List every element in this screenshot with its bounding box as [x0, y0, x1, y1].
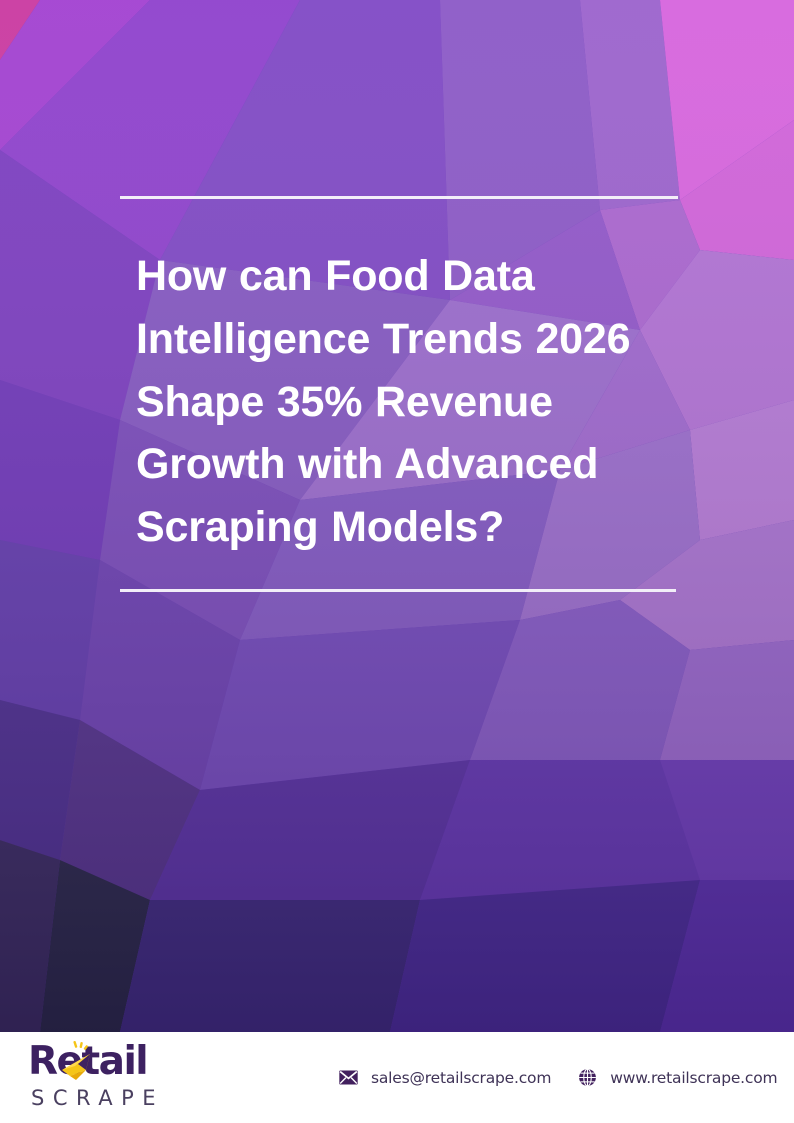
- footer-contacts: sales@retailscrape.com www.retailscrape.…: [338, 1032, 777, 1123]
- logo-text: Retail: [28, 1040, 208, 1084]
- cover-page: How can Food Data Intelligence Trends 20…: [0, 0, 794, 1123]
- logo-wordmark: Retail: [28, 1040, 208, 1084]
- hero-block: How can Food Data Intelligence Trends 20…: [120, 196, 678, 592]
- envelope-icon: [338, 1067, 359, 1088]
- contact-website-label: www.retailscrape.com: [610, 1069, 777, 1087]
- logo-subtitle: SCRAPE: [31, 1085, 208, 1111]
- globe-icon: [577, 1067, 598, 1088]
- contact-email[interactable]: sales@retailscrape.com: [338, 1067, 551, 1088]
- page-footer: Retail SCRAPE: [0, 1032, 794, 1123]
- title-rule-bottom: [120, 589, 676, 592]
- contact-email-label: sales@retailscrape.com: [371, 1069, 551, 1087]
- brand-logo[interactable]: Retail SCRAPE: [28, 1040, 208, 1111]
- page-title: How can Food Data Intelligence Trends 20…: [120, 199, 636, 589]
- contact-website[interactable]: www.retailscrape.com: [577, 1067, 777, 1088]
